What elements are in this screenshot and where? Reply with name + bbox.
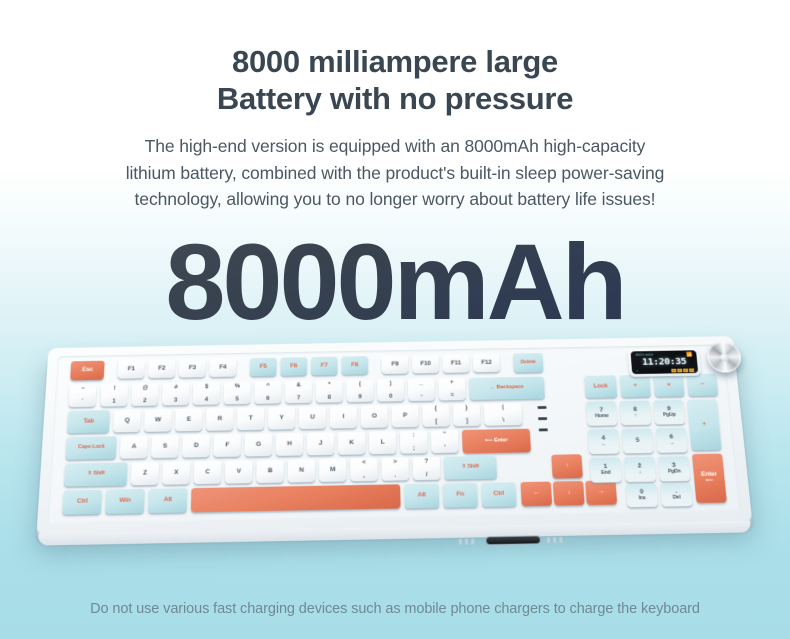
usb-c-port: [485, 535, 541, 545]
key-3[interactable]: #3: [162, 383, 189, 406]
key-0[interactable]: )0: [377, 379, 404, 402]
key-caps-lock[interactable]: Caps Lock: [65, 436, 116, 460]
key-e[interactable]: E: [175, 408, 203, 431]
key-3[interactable]: 3PgDn: [658, 456, 690, 481]
key-esc[interactable]: Esc: [70, 361, 105, 381]
key-f7[interactable]: F7: [311, 357, 338, 376]
key-f2[interactable]: F2: [148, 359, 175, 378]
key-blank[interactable]: ↓: [553, 481, 585, 506]
keyboard-product-image: EscF1F2F3F4F5F6F7F8F9F10F11F12Delete~`!1…: [43, 334, 743, 534]
key-win[interactable]: Win: [105, 489, 145, 514]
subcopy-line-3: technology, allowing you to no longer wo…: [40, 186, 750, 213]
key-f[interactable]: F: [213, 434, 241, 457]
key-f11[interactable]: F11: [442, 354, 469, 373]
key-s[interactable]: S: [151, 435, 179, 458]
oled-display-module[interactable]: 8000 mAh 📶 11:20:35 ⌁ 8000: [627, 348, 701, 377]
headline-line-2: Battery with no pressure: [0, 81, 790, 118]
key-9[interactable]: (9: [346, 380, 373, 403]
key-ctrl[interactable]: Ctrl: [481, 482, 517, 507]
key-key[interactable]: [191, 484, 401, 512]
key-blank[interactable]: ×: [653, 374, 685, 397]
key-blank[interactable]: +: [620, 375, 651, 398]
subcopy-line-2: lithium battery, combined with the produ…: [40, 160, 750, 187]
key-m[interactable]: M: [319, 458, 346, 481]
key-blank[interactable]: −: [686, 374, 718, 397]
key-j[interactable]: J: [307, 432, 334, 455]
key-6[interactable]: ^6: [254, 381, 281, 404]
key-4[interactable]: $4: [193, 382, 220, 405]
subcopy-line-1: The high-end version is equipped with an…: [40, 133, 750, 160]
key-blank[interactable]: "': [431, 430, 459, 453]
key-ctrl[interactable]: Ctrl: [62, 490, 102, 515]
key-q[interactable]: Q: [113, 410, 141, 433]
key-u[interactable]: U: [299, 406, 326, 429]
battery-indicator: 8000: [671, 368, 694, 372]
key-blank[interactable]: →: [585, 480, 617, 505]
key-f4[interactable]: F4: [209, 358, 236, 377]
key-blank[interactable]: +=: [438, 378, 465, 401]
warning-footer: Do not use various fast charging devices…: [0, 601, 790, 617]
key-2[interactable]: @2: [131, 383, 159, 406]
key-f1[interactable]: F1: [118, 360, 145, 379]
key-r[interactable]: R: [206, 408, 233, 431]
key-w[interactable]: W: [144, 409, 172, 432]
key-7[interactable]: 7Home: [586, 401, 618, 426]
key-y[interactable]: Y: [268, 407, 295, 430]
num-lock-led: [538, 417, 547, 420]
key-0[interactable]: 0Ins: [626, 483, 658, 507]
key-blank[interactable]: ~`: [69, 385, 97, 408]
key-8[interactable]: 8↑: [620, 400, 652, 425]
key-t[interactable]: T: [237, 407, 264, 430]
key-6[interactable]: 6→: [656, 428, 688, 453]
key-h[interactable]: H: [276, 433, 303, 456]
key-f3[interactable]: F3: [179, 359, 206, 378]
key-k[interactable]: K: [338, 432, 365, 455]
key-9[interactable]: 9PgUp: [653, 400, 685, 425]
capacity-watermark: 8000mAh: [0, 228, 790, 336]
key-f12[interactable]: F12: [473, 354, 500, 373]
key-blank[interactable]: .Del: [660, 483, 692, 507]
key-blank[interactable]: {[: [422, 404, 450, 427]
key-f8[interactable]: F8: [341, 356, 368, 375]
oled-screen: 8000 mAh 📶 11:20:35 ⌁ 8000: [630, 350, 698, 374]
key-blank[interactable]: ↑: [551, 454, 583, 478]
key-l[interactable]: L: [369, 431, 396, 454]
key-lock[interactable]: Lock: [584, 375, 617, 398]
key-g[interactable]: G: [245, 433, 272, 456]
key-blank[interactable]: ←: [520, 482, 552, 507]
key-blank[interactable]: _-: [408, 379, 435, 402]
key-a[interactable]: A: [120, 436, 148, 459]
scroll-lock-led: [539, 428, 548, 431]
key-blank[interactable]: +: [687, 399, 722, 450]
key-alt[interactable]: Alt: [404, 484, 439, 509]
screen-mode-icon: ⌁: [636, 368, 639, 373]
headline-line-1: 8000 milliampere large: [0, 44, 790, 81]
key-f10[interactable]: F10: [412, 355, 439, 374]
key-backspace[interactable]: ← Backspace: [469, 377, 545, 400]
key-delete[interactable]: Delete: [513, 353, 543, 373]
key-p[interactable]: P: [391, 405, 418, 428]
key-f5[interactable]: F5: [250, 358, 277, 377]
key-tab[interactable]: Tab: [67, 410, 110, 433]
key-fn[interactable]: Fn: [443, 483, 478, 508]
key-i[interactable]: I: [330, 406, 357, 429]
caps-lock-led: [537, 406, 546, 409]
key-blank[interactable]: |\: [484, 403, 523, 426]
key-f6[interactable]: F6: [280, 357, 307, 376]
page-title: 8000 milliampere large Battery with no p…: [0, 0, 790, 117]
key-o[interactable]: O: [361, 405, 388, 428]
key-d[interactable]: D: [182, 434, 210, 457]
key-5[interactable]: %5: [224, 382, 251, 405]
key-shift[interactable]: ⇧ Shift: [64, 462, 128, 486]
key-blank[interactable]: :;: [400, 431, 428, 454]
key-f9[interactable]: F9: [382, 355, 409, 374]
key-1[interactable]: !1: [100, 384, 128, 407]
screen-top-label: 8000 mAh: [635, 352, 653, 356]
key-alt[interactable]: Alt: [148, 488, 187, 513]
key-8[interactable]: *8: [316, 380, 343, 403]
key-blank[interactable]: }]: [453, 404, 481, 427]
screen-time: 11:20:35: [631, 356, 698, 367]
key-5[interactable]: 5: [622, 428, 654, 453]
key-x[interactable]: X: [162, 461, 190, 484]
key-7[interactable]: &7: [285, 381, 312, 404]
key-enter[interactable]: ⟵ Enter: [462, 429, 531, 454]
description-paragraph: The high-end version is equipped with an…: [0, 117, 790, 213]
key-4[interactable]: 4←: [588, 429, 620, 454]
